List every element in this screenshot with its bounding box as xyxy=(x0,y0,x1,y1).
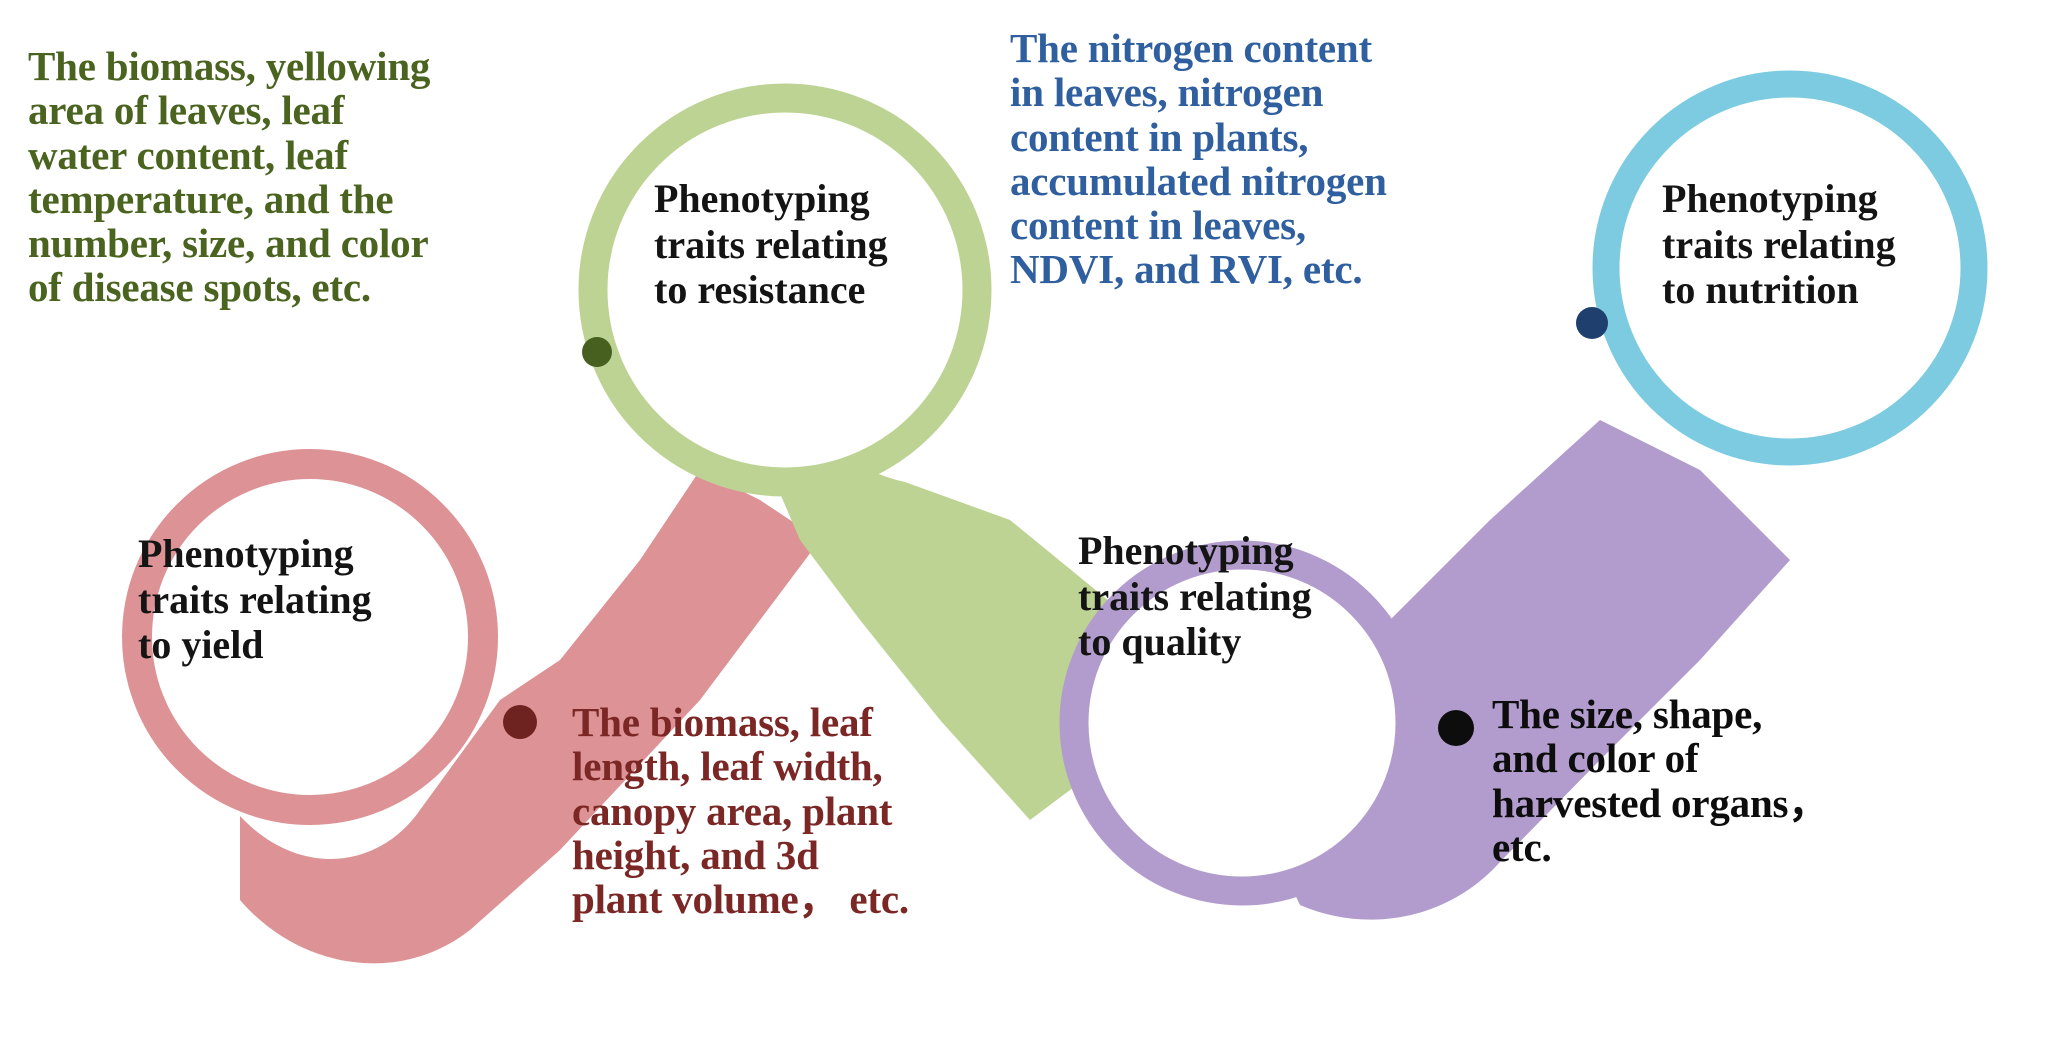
annotation-nutrition: The nitrogen content in leaves, nitrogen… xyxy=(1010,26,1430,292)
annotation-quality: The size, shape, and color of harvested … xyxy=(1492,692,1852,869)
node-dot-quality xyxy=(1438,710,1474,746)
circle-label-nutrition: Phenotyping traits relating to nutrition xyxy=(1662,176,1962,313)
node-dot-yield xyxy=(503,705,537,739)
node-dot-resistance xyxy=(582,337,612,367)
annotation-resistance: The biomass, yellowing area of leaves, l… xyxy=(28,44,498,310)
annotation-yield: The biomass, leaf length, leaf width, ca… xyxy=(572,700,932,921)
circle-label-resistance: Phenotyping traits relating to resistanc… xyxy=(654,176,954,313)
diagram-canvas: The biomass, yellowing area of leaves, l… xyxy=(0,0,2046,1050)
circle-label-quality: Phenotyping traits relating to quality xyxy=(1078,528,1368,665)
circle-label-yield: Phenotyping traits relating to yield xyxy=(138,531,428,668)
node-dot-nutrition xyxy=(1576,307,1608,339)
